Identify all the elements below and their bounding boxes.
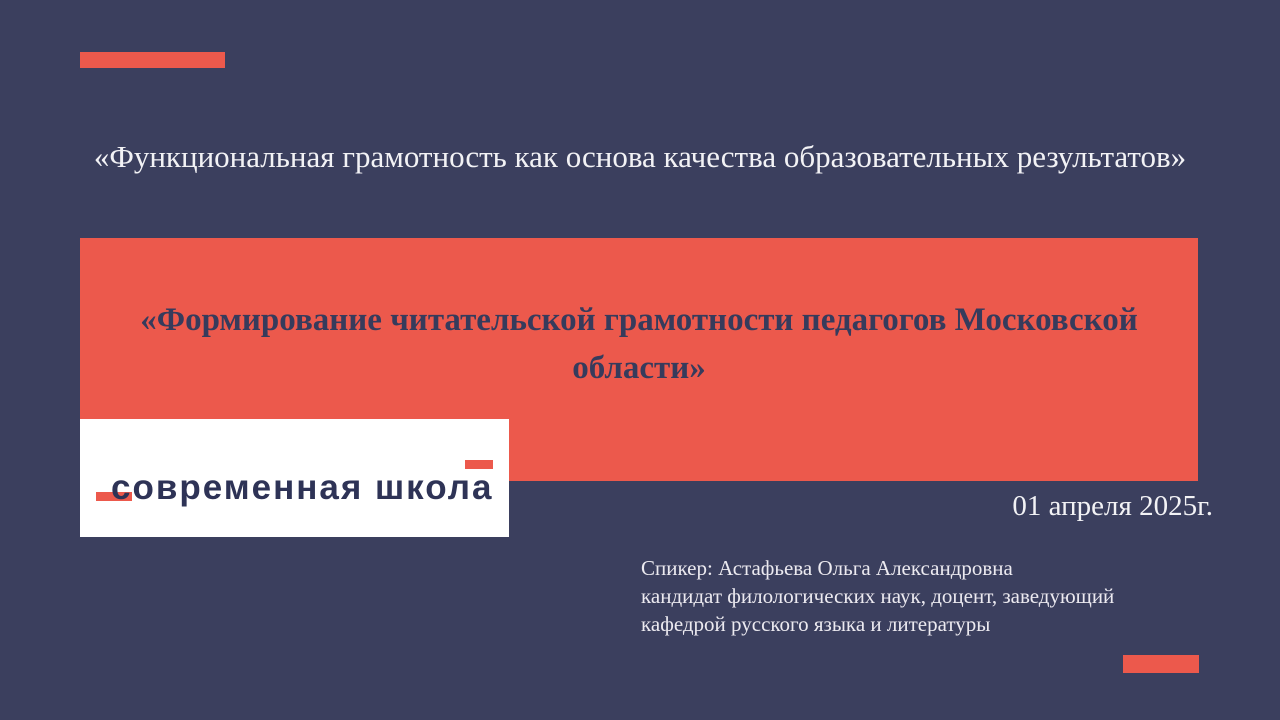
logo-card: современная школа [80,419,509,537]
logo-mark: современная школа [80,419,509,537]
speaker-line-department: кафедрой русского языка и литературы [641,610,1211,638]
event-title: «Функциональная грамотность как основа к… [60,136,1220,178]
presentation-slide: «Функциональная грамотность как основа к… [0,0,1280,720]
logo-text: современная школа [111,469,511,507]
event-date: 01 апреля 2025г. [700,489,1213,523]
accent-bar-top-left [80,52,225,68]
speaker-block: Спикер: Астафьева Ольга Александровна ка… [641,554,1211,638]
speaker-line-name: Спикер: Астафьева Ольга Александровна [641,554,1211,582]
speaker-line-credentials: кандидат филологических наук, доцент, за… [641,582,1211,610]
topic-heading: «Формирование читательской грамотности п… [80,296,1198,392]
accent-bar-bottom-right [1123,655,1199,673]
